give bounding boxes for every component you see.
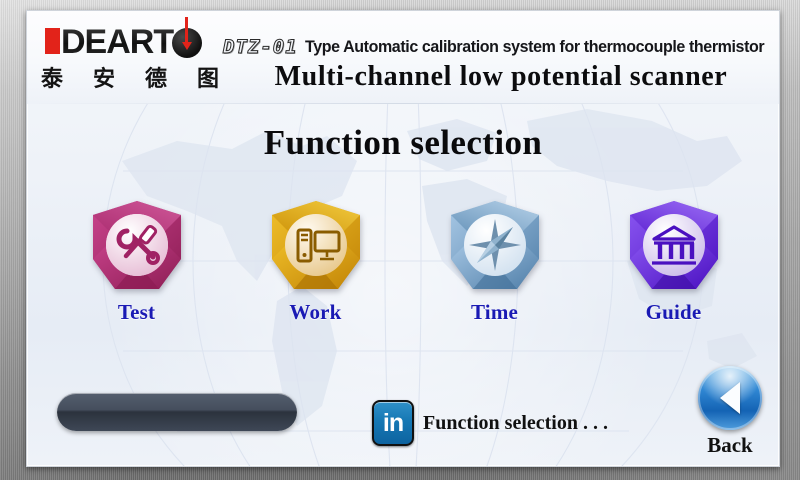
logo-cn-char-3: 德 [145,61,167,93]
back-button[interactable]: Back [693,366,767,456]
logo-cn-char-1: 泰 [41,61,63,93]
menu-item-work[interactable]: Work [241,197,391,325]
test-badge[interactable] [89,197,185,293]
logo-chinese-name: 泰 安 德 图 [41,61,219,93]
menu-label-work: Work [241,300,391,325]
page-title: Function selection [27,123,779,163]
work-badge[interactable] [268,197,364,293]
header-bar: DEARTO 泰 安 德 图 DTZ-01 Type Automatic cal… [27,11,779,104]
back-button-label: Back [693,433,767,458]
menu-item-test[interactable]: Test [62,197,212,325]
function-menu-grid: Test [47,197,763,347]
menu-label-guide: Guide [599,300,749,325]
in-linkedin-icon[interactable]: in [372,400,414,446]
system-subtitle: Type Automatic calibration system for th… [305,38,764,57]
lcd-screen: DEARTO 泰 安 德 图 DTZ-01 Type Automatic cal… [26,10,780,467]
logo-red-accent [45,28,60,54]
status-message-row: in Function selection . . . [372,401,608,445]
model-subtitle-line: DTZ-01 Type Automatic calibration system… [223,34,779,60]
menu-label-time: Time [420,300,570,325]
time-badge[interactable] [447,197,543,293]
menu-label-test: Test [62,300,212,325]
device-bezel: DEARTO 泰 安 德 图 DTZ-01 Type Automatic cal… [0,0,800,480]
logo-thermometer-icon [172,28,202,58]
product-title: Multi-channel low potential scanner [223,61,779,93]
menu-item-guide[interactable]: Guide [599,197,749,325]
logo-cn-char-2: 安 [93,61,115,93]
status-progress-bar[interactable] [57,393,297,431]
model-number: DTZ-01 [223,36,298,58]
brand-logo: DEARTO 泰 安 德 图 [39,25,219,95]
guide-badge[interactable] [626,197,722,293]
status-message-text: Function selection . . . [423,412,608,435]
back-button-circle[interactable] [698,366,762,430]
menu-item-time[interactable]: Time [420,197,570,325]
left-arrow-icon [720,382,740,414]
logo-cn-char-4: 图 [197,61,219,93]
